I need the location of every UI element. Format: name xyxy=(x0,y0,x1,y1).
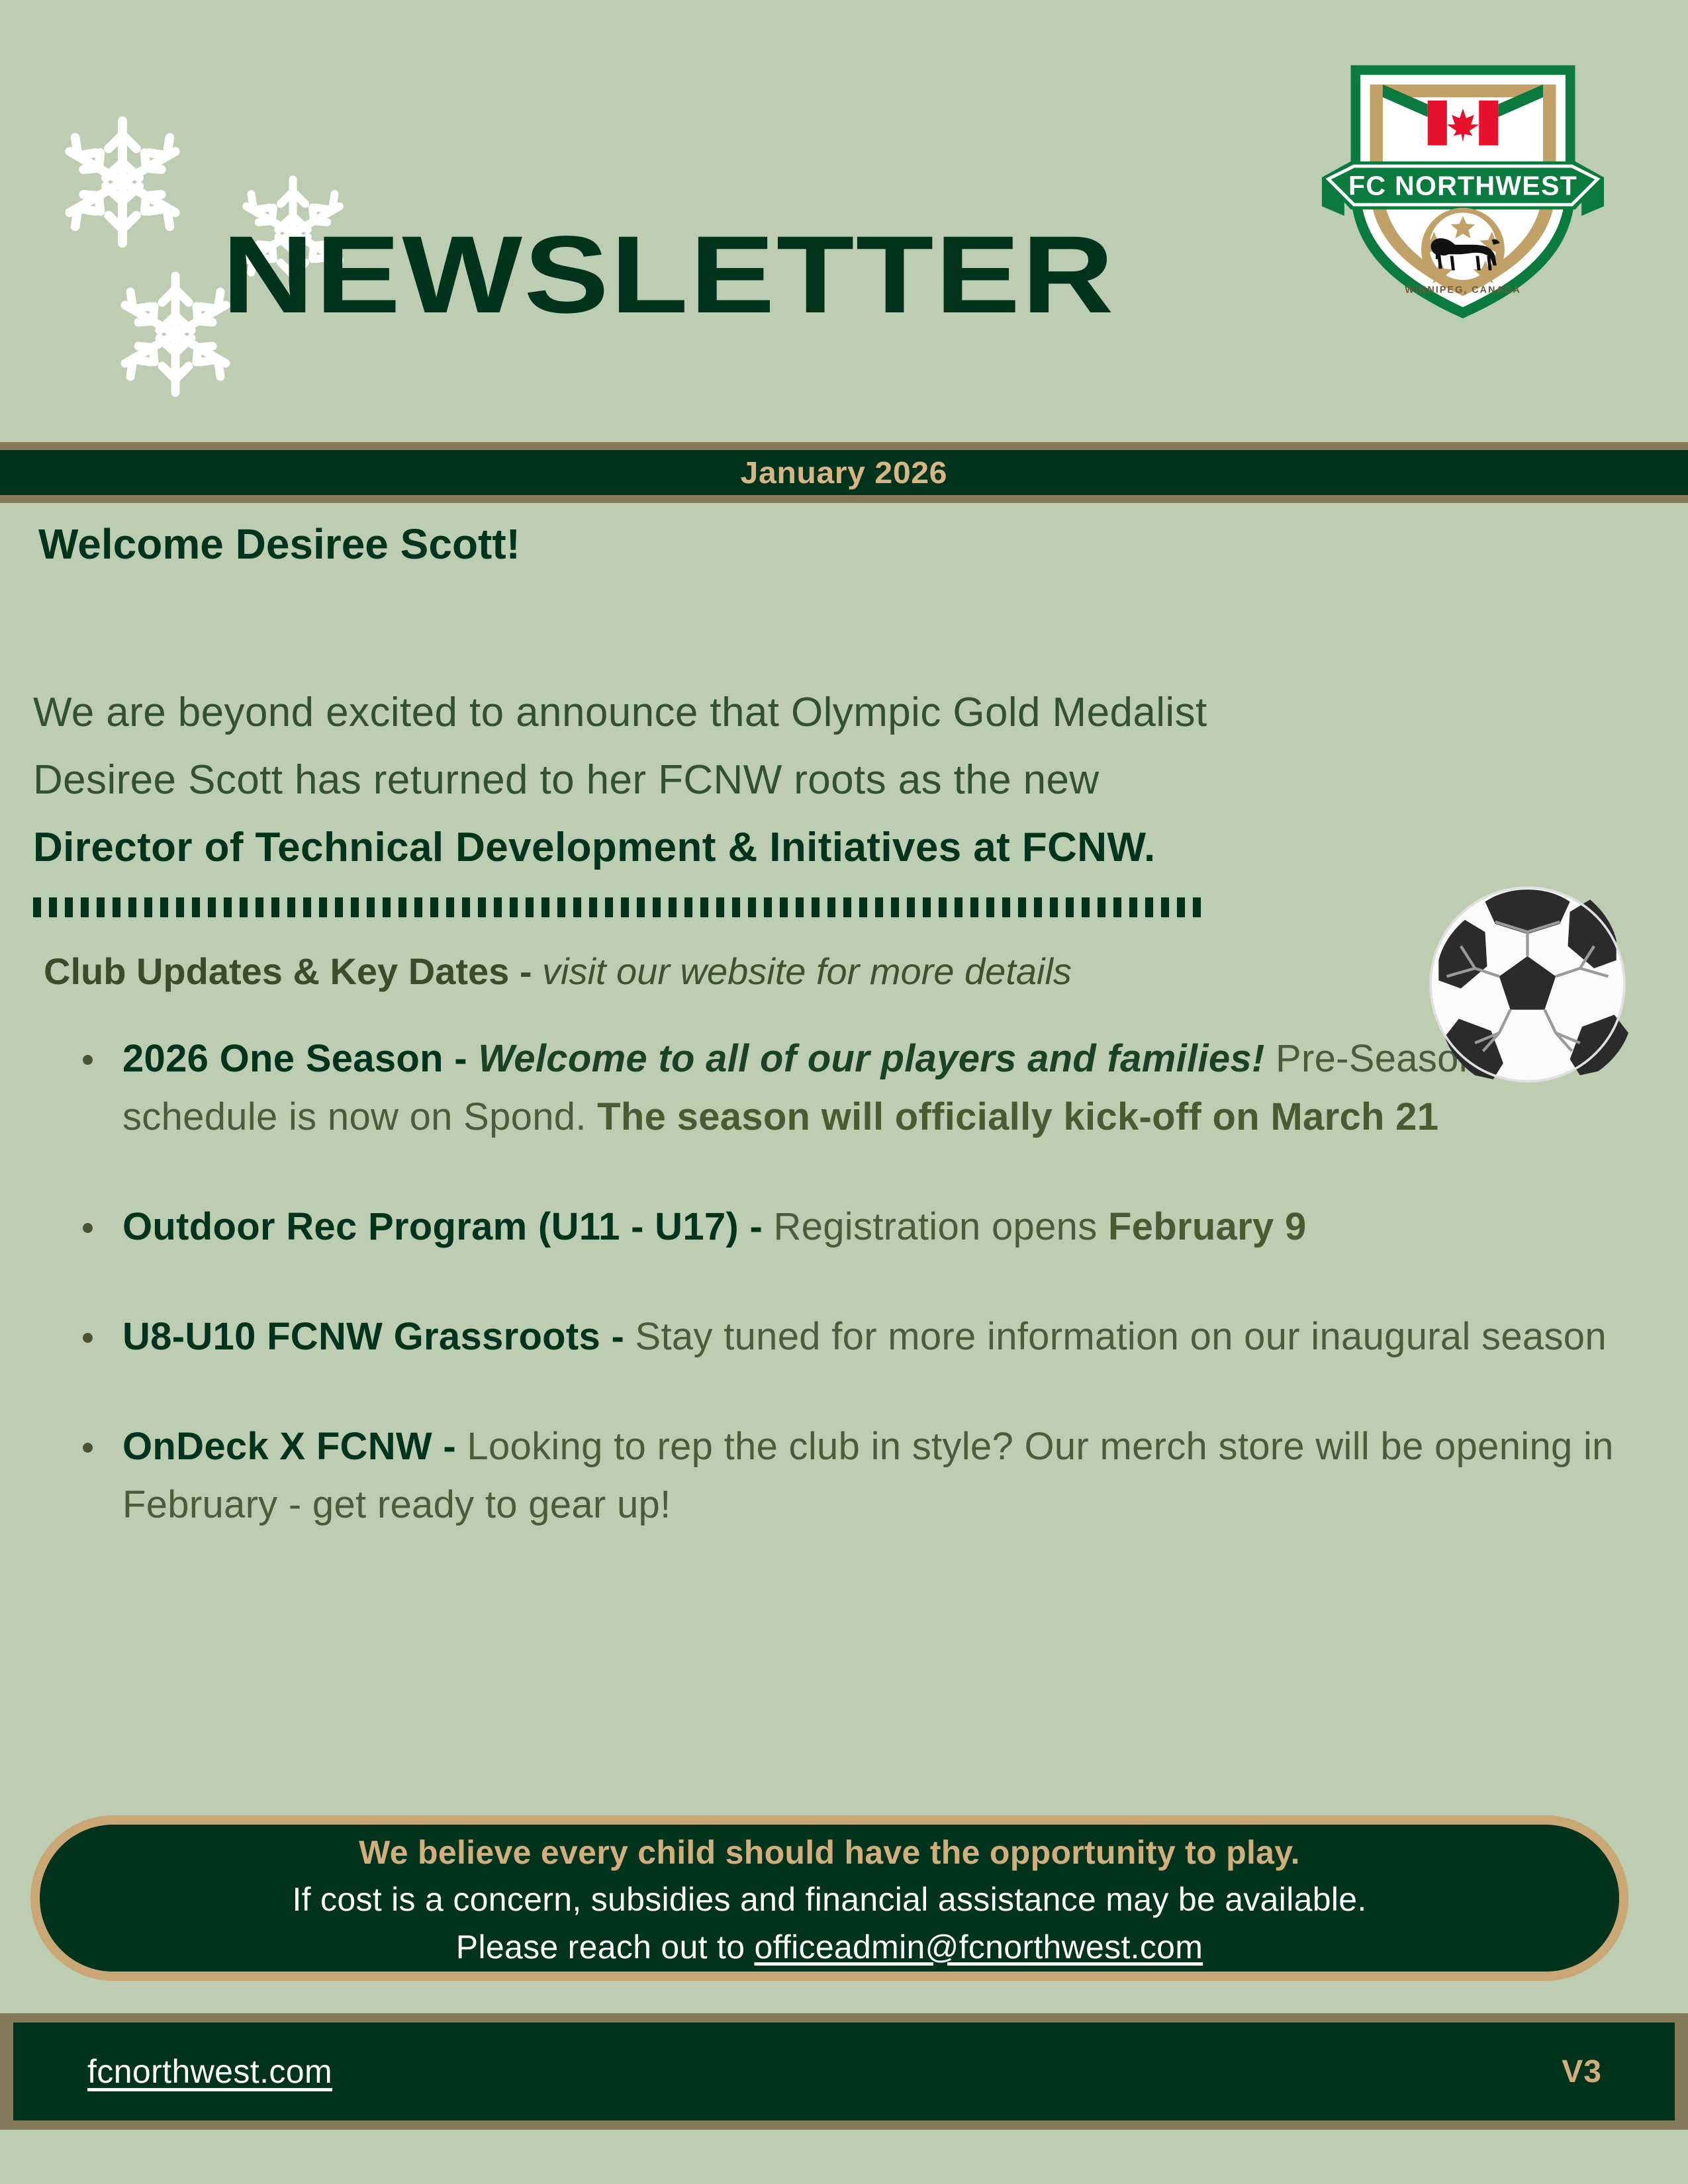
updates-list: 2026 One Season - Welcome to all of our … xyxy=(0,1030,1688,1534)
bullet-0-rest-bold: The season will officially kick-off on M… xyxy=(597,1095,1438,1138)
intro-line-2: Desiree Scott has returned to her FCNW r… xyxy=(33,747,1642,814)
bullet-2-rest: Stay tuned for more information on our i… xyxy=(635,1315,1607,1358)
bullet-1-rest-bold: February 9 xyxy=(1108,1205,1307,1248)
bullet-1-lead: Outdoor Rec Program (U11 - U17) - xyxy=(122,1205,773,1248)
callout-line-2: If cost is a concern, subsidies and fina… xyxy=(292,1876,1366,1923)
callout-line-3: Please reach out to officeadmin@fcnorthw… xyxy=(456,1923,1203,1971)
page-footer: fcnorthwest.com V3 xyxy=(0,2013,1688,2130)
intro-line-3: Director of Technical Development & Init… xyxy=(33,825,1156,870)
bullet-0-lead-italic: Welcome to all of our players and famili… xyxy=(478,1037,1264,1080)
section-heading-note: visit our website for more details xyxy=(542,950,1072,992)
issue-date: January 2026 xyxy=(741,455,947,490)
bullet-1-rest: Registration opens xyxy=(773,1205,1107,1248)
logo-club-name: FC NORTHWEST xyxy=(1348,171,1577,201)
newsletter-page: FC NORTHWEST WINNIPEG, CANADA NEWSLETTER… xyxy=(0,0,1688,2184)
bullet-3-lead: OnDeck X FCNW - xyxy=(122,1425,467,1468)
section-heading-bold: Club Updates & Key Dates - xyxy=(44,950,542,992)
soccer-ball-icon xyxy=(1427,884,1628,1085)
callout-line-1: We believe every child should have the o… xyxy=(359,1829,1300,1876)
list-item: U8-U10 FCNW Grassroots - Stay tuned for … xyxy=(122,1308,1622,1366)
list-item: OnDeck X FCNW - Looking to rep the club … xyxy=(122,1418,1622,1534)
callout-line-3-prefix: Please reach out to xyxy=(456,1929,755,1966)
dotted-divider xyxy=(33,897,1225,917)
financial-assistance-callout: We believe every child should have the o… xyxy=(30,1815,1628,1981)
list-item: Outdoor Rec Program (U11 - U17) - Regist… xyxy=(122,1198,1622,1256)
footer-website-link[interactable]: fcnorthwest.com xyxy=(87,2052,332,2091)
callout-email-link[interactable]: officeadmin@fcnorthwest.com xyxy=(755,1929,1203,1966)
intro-line-1: We are beyond excited to announce that O… xyxy=(33,679,1642,747)
list-item: 2026 One Season - Welcome to all of our … xyxy=(122,1030,1622,1146)
bullet-2-lead: U8-U10 FCNW Grassroots - xyxy=(122,1315,635,1358)
page-title: NEWSLETTER xyxy=(0,220,1444,330)
intro-paragraph: We are beyond excited to announce that O… xyxy=(33,679,1642,882)
welcome-heading: Welcome Desiree Scott! xyxy=(38,523,1688,565)
footer-inner: fcnorthwest.com V3 xyxy=(13,2023,1675,2120)
bullet-0-lead: 2026 One Season - xyxy=(122,1037,478,1080)
date-banner: January 2026 xyxy=(0,442,1688,503)
footer-version: V3 xyxy=(1562,2054,1602,2090)
